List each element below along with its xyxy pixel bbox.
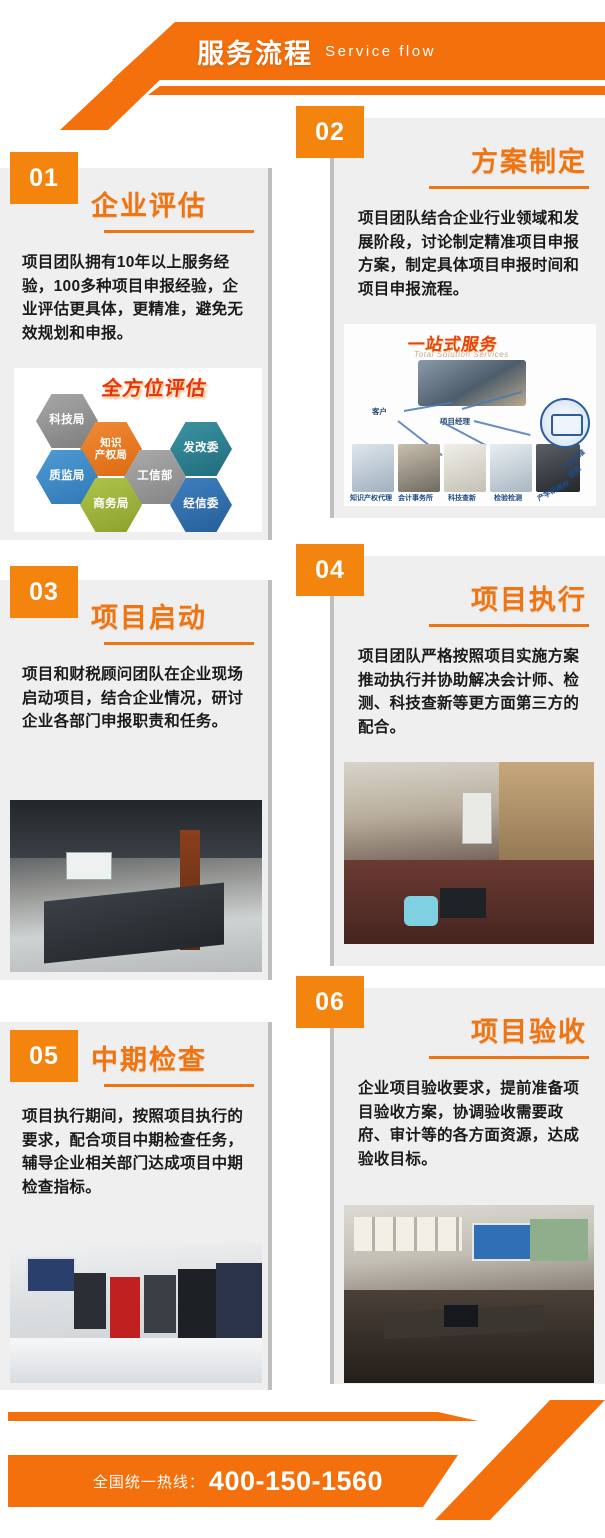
step-badge-05: 05 <box>10 1030 78 1082</box>
step-badge-01: 01 <box>10 152 78 204</box>
header-accent-line <box>0 86 605 95</box>
one-stop-label-ip: 知识产权代理 <box>350 493 392 503</box>
one-stop-label-customer: 客户 <box>372 406 387 417</box>
step-badge-06: 06 <box>296 976 364 1028</box>
one-stop-thumb-testing <box>490 444 532 492</box>
step-badge-02: 02 <box>296 106 364 158</box>
one-stop-label-testing: 检验检测 <box>494 493 522 503</box>
one-stop-label-accounting: 会计事务所 <box>398 493 433 503</box>
card-body-01: 项目团队拥有10年以上服务经验，100多种项目申报经验，企业评估更具体，更精准，… <box>0 233 268 355</box>
footer-accent-line <box>8 1412 605 1421</box>
one-stop-service-image-02: 一站式服务 Total Solution Services 客户 项目经理 知识… <box>344 324 596 506</box>
hotline-number: 400-150-1560 <box>209 1466 383 1497</box>
one-stop-label-search: 科技查新 <box>448 493 476 503</box>
card-body-04: 项目团队严格按照项目实施方案推动执行并协助解决会计师、检测、科技查新等更方面第三… <box>334 627 605 749</box>
hotline-label: 全国统一热线： <box>93 1471 205 1492</box>
hex-diagram-title: 全方位评估 <box>100 372 209 401</box>
page-header: 服务流程 Service flow <box>0 0 605 120</box>
service-flow-infographic: 服务流程 Service flow 企业评估 项目团队拥有10年以上服务经验，1… <box>0 0 605 1538</box>
card-body-06: 企业项目验收要求，提前准备项目验收方案，协调验收需要政府、审计等的各方面资源，达… <box>334 1059 605 1181</box>
card-title-04: 项目执行 <box>334 556 605 617</box>
one-stop-thumb-ip <box>352 444 394 492</box>
card-title-02: 方案制定 <box>334 118 605 179</box>
one-stop-thumb-accounting <box>398 444 440 492</box>
card-body-03: 项目和财税顾问团队在企业现场启动项目，结合企业情况，研讨企业各部门申报职责和任务… <box>0 645 268 744</box>
page-title-en: Service flow <box>325 43 436 60</box>
showroom-visit-photo-05 <box>10 1243 262 1383</box>
card-body-02: 项目团队结合企业行业领域和发展阶段，讨论制定精准项目申报方案，制定具体项目申报时… <box>334 189 605 311</box>
page-title-cn: 服务流程 <box>197 32 313 71</box>
card-title-06: 项目验收 <box>334 988 605 1049</box>
one-stop-thumb-search <box>444 444 486 492</box>
meeting-room-photo-03 <box>10 800 262 972</box>
footer-text-group: 全国统一热线： 400-150-1560 <box>8 1455 468 1507</box>
one-stop-hub-photo <box>418 360 526 406</box>
one-stop-subtitle: Total Solution Services <box>414 350 509 359</box>
card-body-05: 项目执行期间，按照项目执行的要求，配合项目中期检查任务，辅导企业相关部门达成项目… <box>0 1087 268 1209</box>
one-stop-arrow-5 <box>474 420 531 436</box>
header-text-group: 服务流程 Service flow <box>0 22 605 80</box>
one-stop-standard-seal <box>540 398 590 448</box>
working-session-photo-04 <box>344 762 594 944</box>
hex-diagram-01: 全方位评估 科技局 知识 产权局 质监局 工信部 商务局 发改委 经信委 <box>14 368 262 532</box>
step-badge-04: 04 <box>296 544 364 596</box>
step-badge-03: 03 <box>10 566 78 618</box>
conference-review-photo-06 <box>344 1205 594 1383</box>
